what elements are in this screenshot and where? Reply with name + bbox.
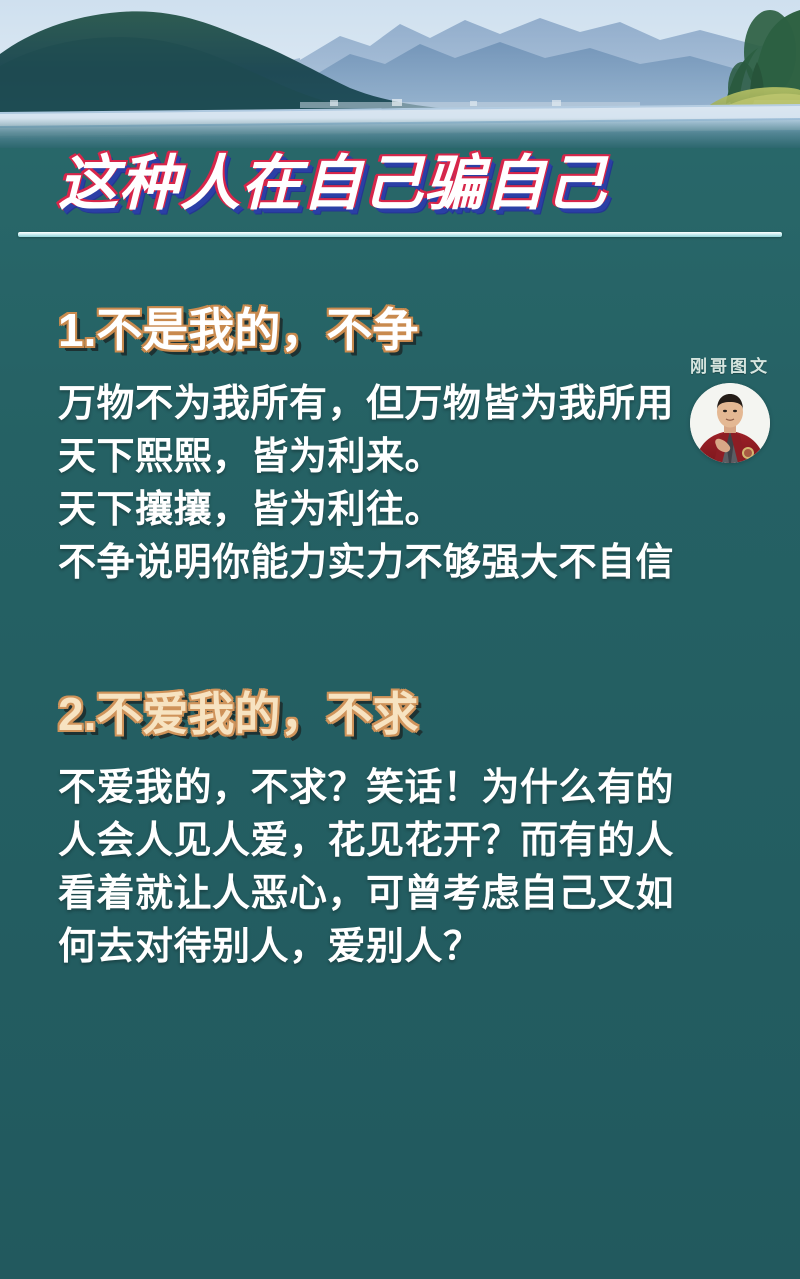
body-line: 不爱我的，不求？笑话！为什么有的 [58, 762, 800, 815]
body-line: 天下攘攘，皆为利往。 [58, 484, 800, 537]
body-line: 天下熙熙，皆为利来。 [58, 431, 800, 484]
title-area: 这种人在自己骗自己 [0, 148, 800, 236]
section-1-body: 万物不为我所有，但万物皆为我所用 天下熙熙，皆为利来。 天下攘攘，皆为利往。 不… [58, 378, 800, 590]
header-landscape-photo [0, 0, 800, 148]
body-line: 何去对待别人，爱别人？ [58, 921, 800, 974]
body-line: 不争说明你能力实力不够强大不自信 [58, 537, 800, 590]
body-line: 万物不为我所有，但万物皆为我所用 [58, 378, 800, 431]
poster-canvas: 这种人在自己骗自己 刚哥图文 [0, 0, 800, 1279]
body-line: 人会人见人爱，花见花开？而有的人 [58, 815, 800, 868]
section-1: 1.不是我的，不争 万物不为我所有，但万物皆为我所用 天下熙熙，皆为利来。 天下… [0, 306, 800, 590]
section-1-heading: 1.不是我的，不争 [58, 306, 800, 356]
body-line: 看着就让人恶心，可曾考虑自己又如 [58, 868, 800, 921]
page-title: 这种人在自己骗自己 [58, 154, 607, 214]
landscape-illustration [0, 0, 800, 148]
section-2-heading: 2.不爱我的，不求 [58, 690, 800, 740]
title-divider [18, 232, 782, 237]
section-2-body: 不爱我的，不求？笑话！为什么有的 人会人见人爱，花见花开？而有的人 看着就让人恶… [58, 762, 800, 974]
section-2: 2.不爱我的，不求 不爱我的，不求？笑话！为什么有的 人会人见人爱，花见花开？而… [0, 690, 800, 974]
